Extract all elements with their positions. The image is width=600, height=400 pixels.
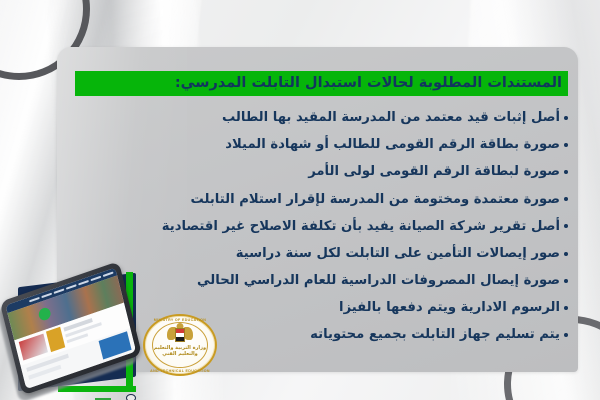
bullet-dot-icon — [564, 306, 568, 310]
list-item: صورة لبطاقة الرقم القومى لولى الأمر — [73, 158, 568, 185]
bullet-dot-icon — [564, 143, 568, 147]
bullet-dot-icon — [564, 224, 568, 228]
bullet-dot-icon — [564, 116, 568, 120]
title-banner: المستندات المطلوبة لحالات استبدال التابل… — [75, 71, 568, 96]
list-item-label: صورة لبطاقة الرقم القومى لولى الأمر — [308, 165, 560, 178]
list-item: صورة إيصال المصروفات الدراسية للعام الدر… — [73, 267, 568, 294]
list-item: صورة معتمدة ومختومة من المدرسة لإقرار اس… — [73, 186, 568, 213]
list-item-label: صور إيصالات التأمين على التابلت لكل سنة … — [236, 247, 560, 260]
list-item-label: الرسوم الادارية ويتم دفعها بالفيزا — [339, 301, 560, 314]
bullet-dot-icon — [564, 252, 568, 256]
poster-canvas: المستندات المطلوبة لحالات استبدال التابل… — [0, 0, 600, 400]
seal-arabic-text: وزارة التربية والتعليم والتعليم الفني — [151, 345, 209, 358]
list-item-label: صورة إيصال المصروفات الدراسية للعام الدر… — [197, 274, 560, 287]
list-item-label: صورة معتمدة ومختومة من المدرسة لإقرار اس… — [191, 193, 560, 206]
ministry-seal-logo: MINISTRY OF EDUCATION وزارة التربية والت… — [143, 314, 217, 376]
list-item: صور إيصالات التأمين على التابلت لكل سنة … — [73, 240, 568, 267]
list-item-label: أصل تقرير شركة الصيانة يفيد بأن تكلفة ال… — [162, 220, 560, 233]
list-item: صورة بطاقة الرقم القومى للطالب أو شهادة … — [73, 131, 568, 158]
page-title: المستندات المطلوبة لحالات استبدال التابل… — [175, 76, 562, 91]
seal-arc-bottom-text: AND TECHNICAL EDUCATION — [143, 369, 217, 373]
seal-arc-top-text: MINISTRY OF EDUCATION — [143, 318, 217, 322]
list-item-label: صورة بطاقة الرقم القومى للطالب أو شهادة … — [225, 138, 560, 151]
requirements-list: أصل إثبات قيد معتمد من المدرسة المقيد به… — [73, 104, 568, 349]
list-item-label: أصل إثبات قيد معتمد من المدرسة المقيد به… — [222, 111, 560, 124]
content-card: المستندات المطلوبة لحالات استبدال التابل… — [57, 47, 578, 372]
list-item-label: يتم تسليم جهاز التابلت بجميع محتوياته — [310, 328, 560, 341]
seal-arabic-line-2: والتعليم الفني — [151, 351, 209, 357]
small-dot-marker — [126, 394, 136, 400]
bullet-dot-icon — [564, 333, 568, 337]
list-item: أصل تقرير شركة الصيانة يفيد بأن تكلفة ال… — [73, 213, 568, 240]
green-accent-horizontal — [58, 386, 136, 392]
bullet-dot-icon — [564, 170, 568, 174]
bullet-dot-icon — [564, 197, 568, 201]
list-item: أصل إثبات قيد معتمد من المدرسة المقيد به… — [73, 104, 568, 131]
eagle-of-saladin-icon — [167, 323, 193, 344]
bullet-dot-icon — [564, 279, 568, 283]
